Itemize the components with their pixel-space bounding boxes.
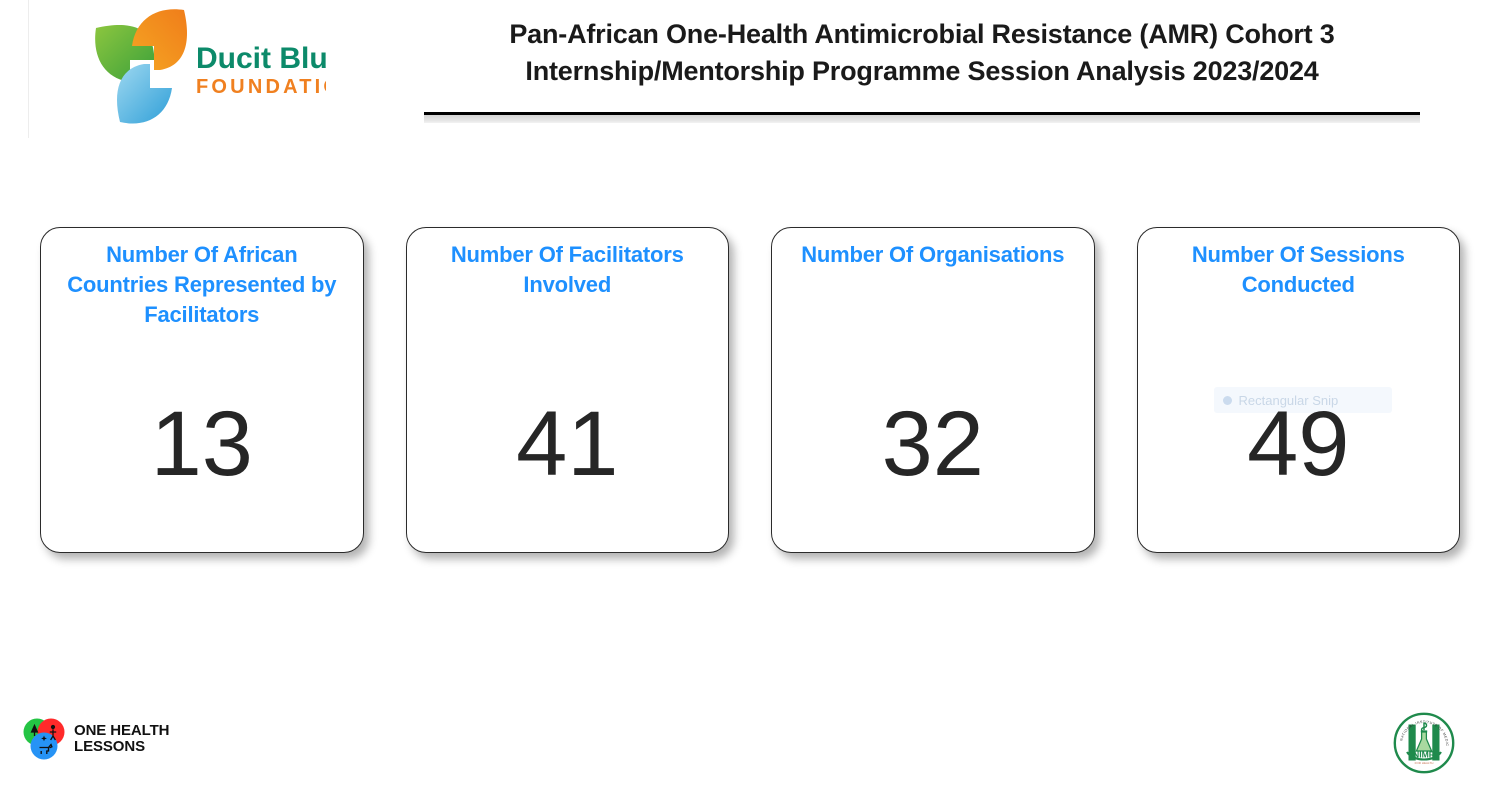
kpi-card-title: Number Of Sessions Conducted bbox=[1152, 240, 1444, 300]
divider-light-band bbox=[424, 115, 1420, 123]
kpi-card-title: Number Of African Countries Represented … bbox=[56, 240, 348, 330]
svg-text:Ducit Blue: Ducit Blue bbox=[196, 42, 326, 75]
svg-text:FOR HEALTH: FOR HEALTH bbox=[1415, 761, 1434, 765]
kpi-card-organisations[interactable]: Number Of Organisations 32 bbox=[771, 227, 1095, 553]
kpi-card-title: Number Of Facilitators Involved bbox=[421, 240, 713, 300]
header: Ducit Blue FOUNDATION Pan-African One-He… bbox=[0, 0, 1497, 140]
kpi-card-sessions[interactable]: Number Of Sessions Conducted Rectangular… bbox=[1137, 227, 1461, 553]
title-line-2: Internship/Mentorship Programme Session … bbox=[424, 53, 1420, 90]
nimr-acronym-text: NIMR bbox=[1413, 749, 1436, 759]
one-health-lessons-logo: ONE HEALTH LESSONS bbox=[22, 712, 192, 766]
page-title: Pan-African One-Health Antimicrobial Res… bbox=[424, 16, 1420, 90]
kpi-card-facilitators[interactable]: Number Of Facilitators Involved 41 bbox=[406, 227, 730, 553]
svg-text:FOUNDATION: FOUNDATION bbox=[196, 76, 326, 98]
header-divider bbox=[424, 112, 1420, 124]
ducit-blue-foundation-logo: Ducit Blue FOUNDATION bbox=[86, 4, 326, 130]
title-line-1: Pan-African One-Health Antimicrobial Res… bbox=[424, 16, 1420, 53]
kpi-card-countries[interactable]: Number Of African Countries Represented … bbox=[40, 227, 364, 553]
one-health-line-1: ONE HEALTH bbox=[74, 723, 169, 739]
kpi-card-value: 41 bbox=[407, 396, 729, 492]
nimr-logo: NATIONAL INSTITUTE OF MEDICAL RESEARCH N… bbox=[1393, 712, 1455, 774]
one-health-lessons-wordmark: ONE HEALTH LESSONS bbox=[74, 723, 169, 755]
kpi-card-row: Number Of African Countries Represented … bbox=[40, 227, 1460, 553]
one-health-trefoil-icon bbox=[22, 716, 66, 762]
one-health-line-2: LESSONS bbox=[74, 739, 169, 755]
kpi-card-value: 13 bbox=[41, 396, 363, 492]
kpi-card-value: 49 bbox=[1138, 396, 1460, 492]
kpi-card-title: Number Of Organisations bbox=[787, 240, 1079, 270]
kpi-card-value: 32 bbox=[772, 396, 1094, 492]
